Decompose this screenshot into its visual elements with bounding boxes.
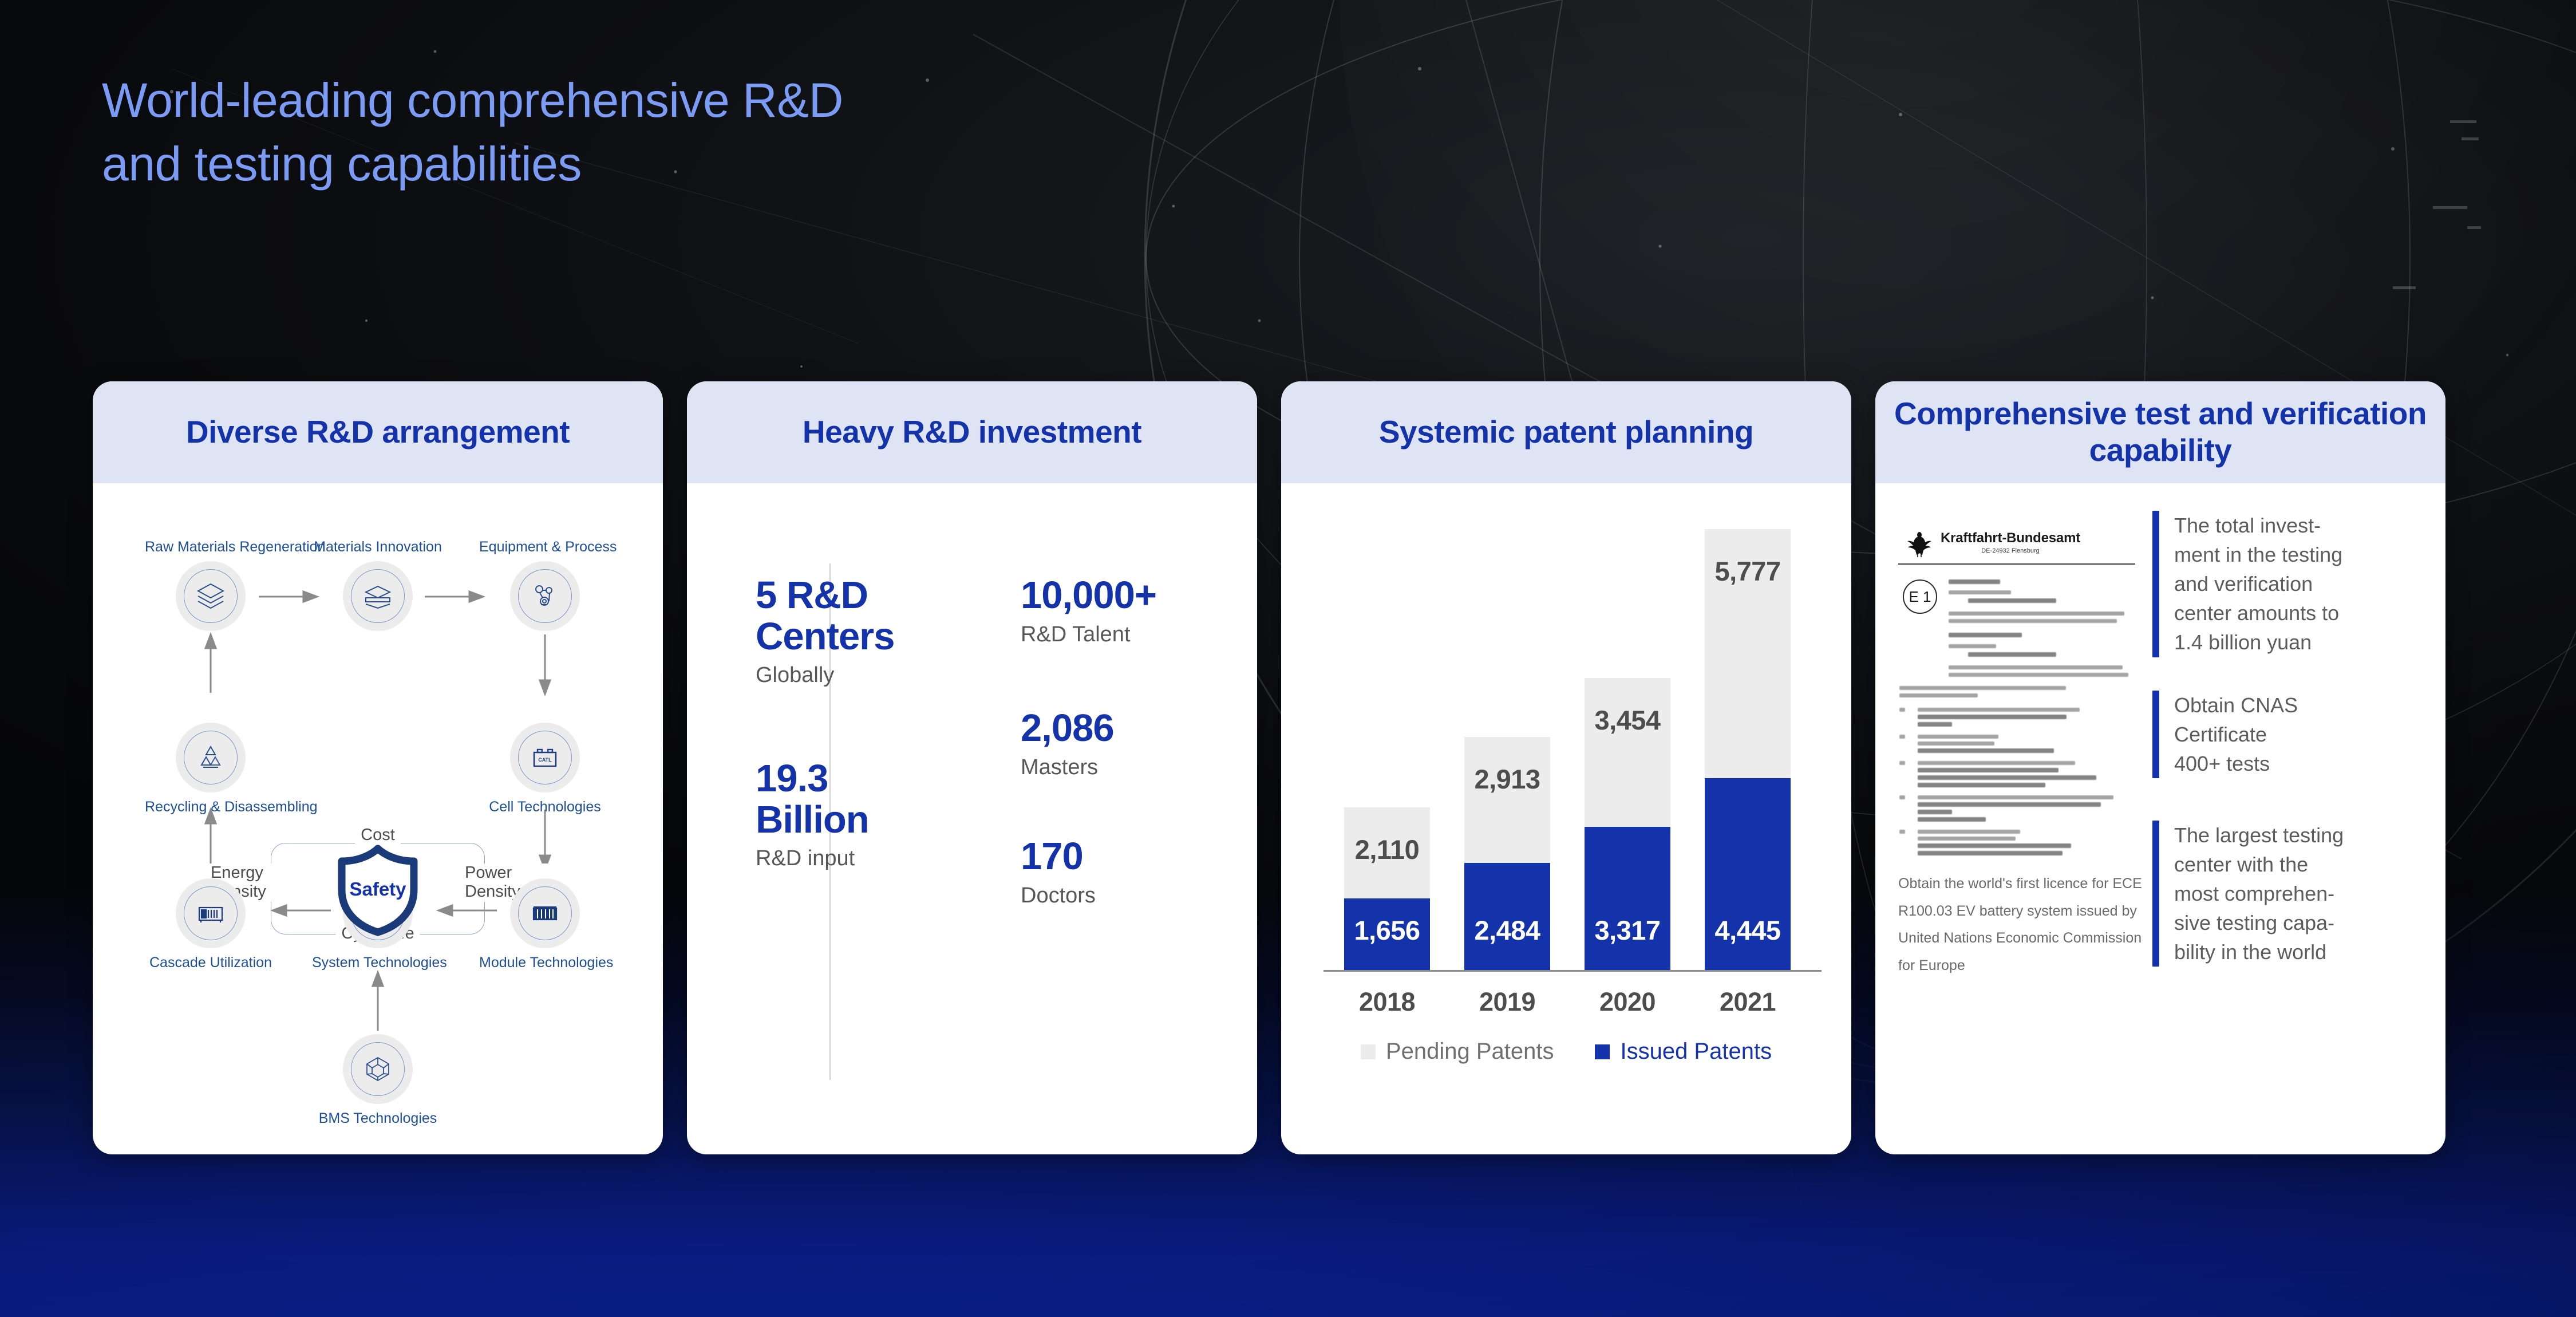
stat-rd-talent: 10,000+ R&D Talent [1021,575,1156,648]
stat-value: 170 [1021,836,1096,877]
node-label: Cell Technologies [479,798,611,815]
bar-group: 5,7774,445 [1705,529,1791,970]
stat-masters: 2,086 Masters [1021,708,1114,780]
stat-value: 2,086 [1021,708,1114,749]
rd-cycle-diagram: Cost Cycle Life Energy Density Power Den… [93,483,663,1154]
chart-plot-area: 2,1101,6562,9132,4843,4543,3175,7774,445 [1327,529,1817,970]
stat-rd-centers: 5 R&D Centers Globally [756,575,927,689]
node-bubble [343,1034,413,1104]
stats-column-right: 10,000+ R&D Talent 2,086 Masters 170 Doc… [972,483,1257,1154]
bullet-text: The largest testing center with the most… [2174,821,2344,967]
diagram-node-module-technologies[interactable]: Module Technologies [479,878,611,971]
node-label: Materials Innovation [312,538,444,555]
certificate-text-block [1949,579,2140,677]
card-header: Heavy R&D investment [687,381,1257,483]
catl-badge-text: CATL [538,757,552,763]
bullet-accent-bar [2152,691,2159,778]
battery-catl-icon: CATL [527,740,563,775]
card-comprehensive-test-verification: Comprehensive test and verification capa… [1875,381,2445,1154]
certificate-column: Kraftfahrt-Bundesamt DE-24932 Flensburg … [1875,483,2144,1154]
bullet-cnas-certificate: Obtain CNAS Certificate 400+ tests [2152,691,2420,778]
card-heavy-rd-investment: Heavy R&D investment 5 R&D Centers Globa… [687,381,1257,1154]
card-body: Kraftfahrt-Bundesamt DE-24932 Flensburg … [1875,483,2445,1154]
recycle-icon [193,740,228,775]
diagram-node-raw-materials-regeneration[interactable]: Raw Materials Regeneration [145,538,276,631]
page-title-line1: World-leading comprehensive R&D [102,73,843,127]
bar-value-label-issued: 1,656 [1344,914,1430,946]
bar-value-label-issued: 4,445 [1705,914,1791,946]
stat-caption: R&D Talent [1021,622,1156,648]
bullet-total-investment: The total invest- ment in the testing an… [2152,511,2420,657]
certificate-authority: Kraftfahrt-Bundesamt [1941,531,2080,545]
bullet-accent-bar [2152,821,2159,967]
node-label: Equipment & Process [479,538,611,555]
certificate-body: E 1 [1894,565,2140,677]
certificate-approval-block [1894,677,2140,697]
node-label: Raw Materials Regeneration [145,538,276,555]
stat-value: 19.3 Billion [756,758,927,840]
legend-item-pending-patents: Pending Patents [1361,1039,1554,1064]
stat-value: 5 R&D Centers [756,575,927,657]
stat-doctors: 170 Doctors [1021,836,1096,909]
bar-segment-issued: 3,317 [1585,827,1670,970]
shield-label: Safety [349,878,406,900]
bar-value-label-pending: 2,110 [1344,834,1430,865]
card-title: Comprehensive test and verification capa… [1893,396,2428,469]
stat-rd-input: 19.3 Billion R&D input [756,758,927,872]
node-label: Module Technologies [479,954,611,971]
stat-caption: R&D input [756,846,927,872]
cube-icon [360,1051,396,1087]
card-diverse-rd-arrangement: Diverse R&D arrangement [93,381,663,1154]
node-label: Recycling & Disassembling [145,798,276,815]
x-tick-label: 2018 [1344,987,1430,1017]
bullet-largest-testing-center: The largest testing center with the most… [2152,821,2420,967]
layers-icon [193,578,228,614]
card-body: 2,1101,6562,9132,4843,4543,3175,7774,445… [1281,483,1851,1154]
bar-value-label-pending: 5,777 [1705,555,1791,587]
node-bubble [176,878,246,948]
bar-segment-issued: 2,484 [1464,863,1550,970]
bar-group: 2,9132,484 [1464,737,1550,970]
bar-segment-pending: 3,454 [1585,678,1670,827]
bar-segment-pending: 5,777 [1705,529,1791,778]
shield-icon: Safety [329,841,426,938]
bullet-accent-bar [2152,511,2159,657]
x-tick-label: 2020 [1585,987,1670,1017]
card-title: Systemic patent planning [1379,414,1753,451]
chart-legend: Pending Patents Issued Patents [1281,1039,1851,1064]
legend-label: Pending Patents [1386,1039,1554,1064]
bar-group: 2,1101,656 [1344,807,1430,970]
stats-column-left: 5 R&D Centers Globally 19.3 Billion R&D … [687,483,972,1154]
bar-group: 3,4543,317 [1585,678,1670,970]
diagram-node-recycling-and-disassembling[interactable]: Recycling & Disassembling [145,723,276,815]
legend-swatch-pending [1361,1044,1376,1059]
node-label: Cascade Utilization [145,954,276,971]
approval-mark-e1: E 1 [1903,579,1937,614]
diagram-node-bms-technologies[interactable]: BMS Technologies [312,1034,444,1127]
legend-swatch-issued [1595,1044,1610,1059]
page-title-line2: and testing capabilities [102,132,1304,196]
node-bubble [510,561,580,631]
certificate-caption: Obtain the world's first licence for ECE… [1894,870,2144,979]
card-header: Comprehensive test and verification capa… [1875,381,2445,483]
battery-rack-icon [193,896,228,931]
card-systemic-patent-planning: Systemic patent planning 2,1101,6562,913… [1281,381,1851,1154]
stat-caption: Globally [756,663,927,689]
node-bubble [510,878,580,948]
bullet-text: The total invest- ment in the testing an… [2174,511,2342,657]
bar-value-label-pending: 3,454 [1585,704,1670,736]
card-header: Systemic patent planning [1281,381,1851,483]
verification-content: Kraftfahrt-Bundesamt DE-24932 Flensburg … [1875,483,2445,1154]
stat-caption: Masters [1021,755,1114,781]
bullet-text: Obtain CNAS Certificate 400+ tests [2174,691,2298,778]
card-row: Diverse R&D arrangement [93,381,2445,1154]
certificate-address: DE-24932 Flensburg [1941,547,2080,554]
card-title: Diverse R&D arrangement [186,414,570,451]
bar-segment-issued: 4,445 [1705,778,1791,970]
legend-label: Issued Patents [1620,1039,1772,1064]
diagram-node-cascade-utilization[interactable]: Cascade Utilization [145,878,276,971]
chart-x-tick-labels: 2018201920202021 [1327,987,1817,1022]
node-bubble [176,723,246,792]
bar-segment-pending: 2,110 [1344,807,1430,898]
bullet-column: The total invest- ment in the testing an… [2144,483,2445,1154]
stat-caption: Doctors [1021,883,1096,909]
investment-stats: 5 R&D Centers Globally 19.3 Billion R&D … [687,483,1257,1154]
card-header: Diverse R&D arrangement [93,381,663,483]
card-body: 5 R&D Centers Globally 19.3 Billion R&D … [687,483,1257,1154]
certificate-header: Kraftfahrt-Bundesamt DE-24932 Flensburg [1894,528,2140,558]
patent-bar-chart: 2,1101,6562,9132,4843,4543,3175,7774,445… [1281,483,1851,1154]
diagram-node-materials-innovation[interactable]: Materials Innovation [312,538,444,631]
bar-value-label-issued: 3,317 [1585,914,1670,946]
node-bubble [343,561,413,631]
safety-shield: Safety [329,841,426,941]
diagram-node-cell-technologies[interactable]: CATL Cell Technologies [479,723,611,815]
robot-arm-icon [527,578,563,614]
x-tick-label: 2019 [1464,987,1550,1017]
x-tick-label: 2021 [1705,987,1791,1017]
bar-segment-pending: 2,913 [1464,737,1550,862]
diagram-node-equipment-and-process[interactable]: Equipment & Process [479,538,611,631]
chart-x-axis [1323,970,1822,972]
node-bubble [176,561,246,631]
card-title: Heavy R&D investment [803,414,1141,451]
battery-module-icon [527,896,563,931]
bar-value-label-pending: 2,913 [1464,763,1550,795]
card-body: Cost Cycle Life Energy Density Power Den… [93,483,663,1154]
page-title: World-leading comprehensive R&D and test… [102,69,1304,196]
bar-value-label-issued: 2,484 [1464,914,1550,946]
node-bubble: CATL [510,723,580,792]
certificate-image: Kraftfahrt-Bundesamt DE-24932 Flensburg … [1894,528,2140,855]
bar-segment-issued: 1,656 [1344,898,1430,970]
material-stack-icon [360,578,396,614]
stat-value: 10,000+ [1021,575,1156,616]
node-label: System Technologies [312,954,444,971]
german-eagle-icon [1906,528,1933,558]
legend-item-issued-patents: Issued Patents [1595,1039,1772,1064]
certificate-item-list [1894,697,2140,855]
node-label: BMS Technologies [312,1110,444,1127]
